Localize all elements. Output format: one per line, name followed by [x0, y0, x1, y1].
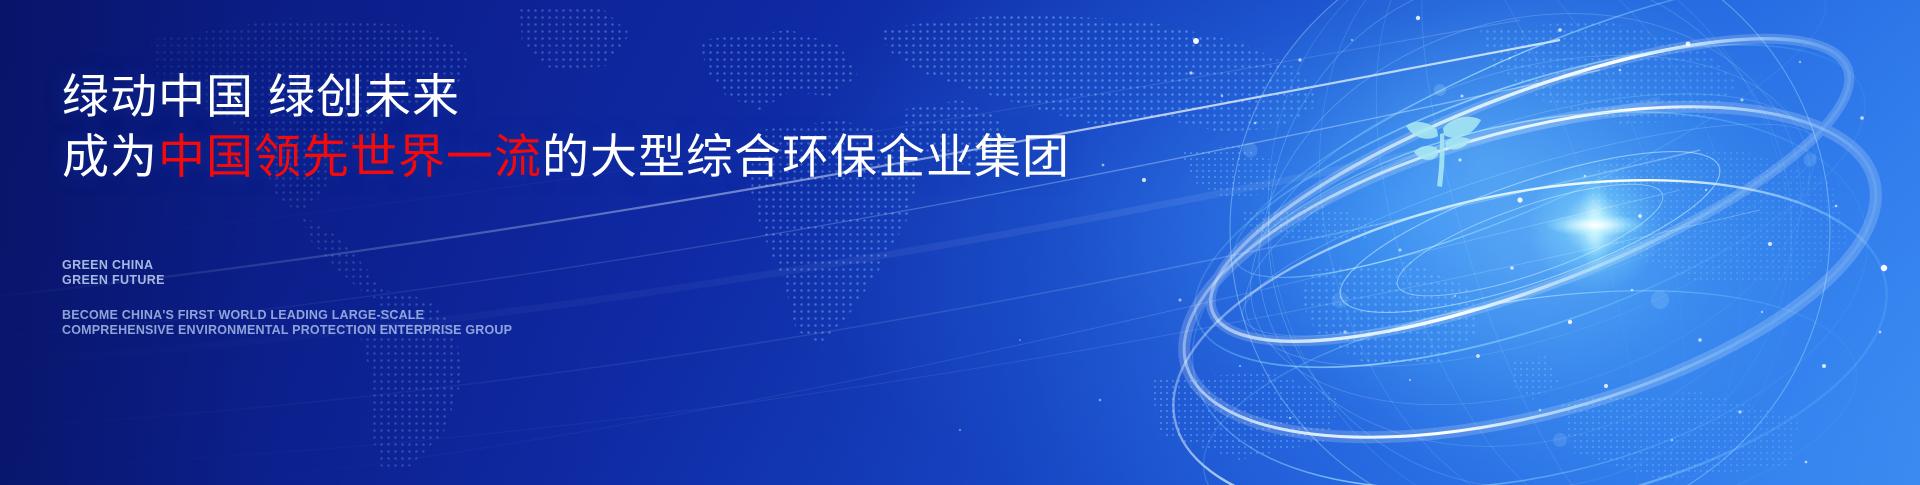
tagline-english: BECOME CHINA'S FIRST WORLD LEADING LARGE… — [62, 308, 512, 339]
headline-highlight: 中国领先世界一流 — [158, 130, 542, 183]
orbital-globe-graphic — [1060, 0, 1920, 485]
headline-prefix: 成为 — [62, 130, 158, 183]
green-sprout-leaf-icon — [1401, 108, 1485, 198]
banner-copy-block: 绿动中国 绿创未来 成为中国领先世界一流的大型综合环保企业集团 GREEN CH… — [62, 0, 1062, 485]
tagline-en-line-1: BECOME CHINA'S FIRST WORLD LEADING LARGE… — [62, 308, 512, 323]
hero-banner: 绿动中国 绿创未来 成为中国领先世界一流的大型综合环保企业集团 GREEN CH… — [0, 0, 1920, 485]
subtitle-english: GREEN CHINA GREEN FUTURE — [62, 258, 165, 289]
subtitle-en-line-2: GREEN FUTURE — [62, 273, 165, 288]
tagline-en-line-2: COMPREHENSIVE ENVIRONMENTAL PROTECTION E… — [62, 323, 512, 338]
headline-line-1: 绿动中国 绿创未来 — [62, 73, 460, 120]
headline-line-2: 成为中国领先世界一流的大型综合环保企业集团 — [62, 133, 1070, 180]
glowing-energy-core — [1510, 150, 1680, 300]
subtitle-en-line-1: GREEN CHINA — [62, 258, 165, 273]
globe-ambient-glow — [1270, 0, 1830, 485]
headline-suffix: 的大型综合环保企业集团 — [542, 130, 1070, 183]
